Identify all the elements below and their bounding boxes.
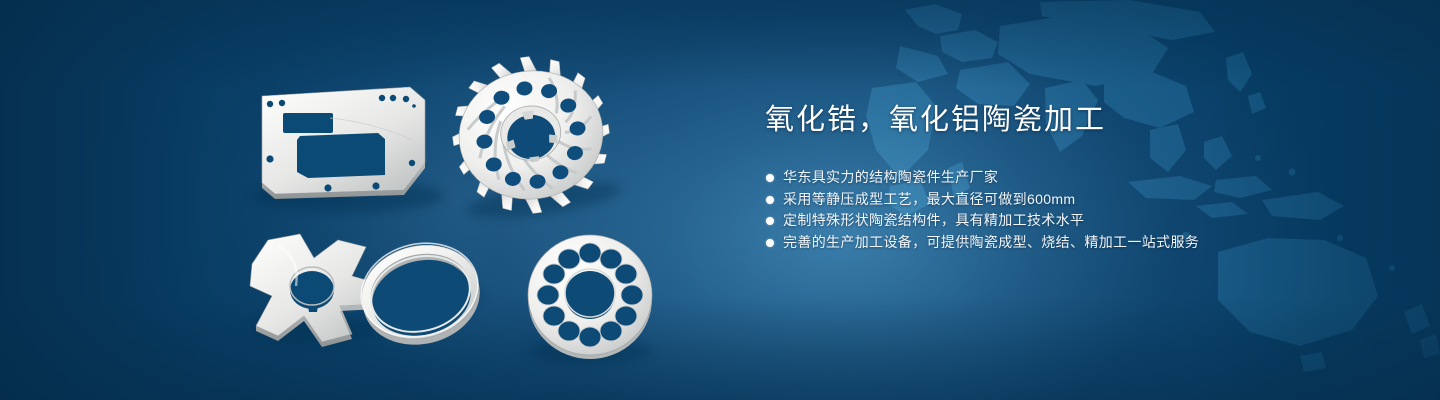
list-item: 采用等静压成型工艺，最大直径可做到600mm xyxy=(765,189,1325,211)
ceramic-perforated-disc xyxy=(528,235,652,364)
list-item: 华东具实力的结构陶瓷件生产厂家 xyxy=(765,167,1325,189)
list-item: 定制特殊形状陶瓷结构件，具有精加工技术水平 xyxy=(765,210,1325,232)
list-item-label: 定制特殊形状陶瓷结构件，具有精加工技术水平 xyxy=(783,212,1084,228)
bullet-dot-icon xyxy=(766,239,774,247)
bullet-dot-icon xyxy=(766,174,774,182)
banner-text-block: 氧化锆，氧化铝陶瓷加工 华东具实力的结构陶瓷件生产厂家 采用等静压成型工艺，最大… xyxy=(765,104,1325,253)
list-item: 完善的生产加工设备，可提供陶瓷成型、烧结、精加工一站式服务 xyxy=(765,232,1325,254)
page-title: 氧化锆，氧化铝陶瓷加工 xyxy=(765,104,1325,136)
ceramic-cross-shaped-part xyxy=(250,234,380,347)
list-item-label: 完善的生产加工设备，可提供陶瓷成型、烧结、精加工一站式服务 xyxy=(783,234,1199,250)
ceramic-parts-photo-group xyxy=(0,0,720,400)
ceramic-plate-with-cutouts xyxy=(252,87,444,212)
list-item-label: 华东具实力的结构陶瓷件生产厂家 xyxy=(783,169,998,185)
feature-list: 华东具实力的结构陶瓷件生产厂家 采用等静压成型工艺，最大直径可做到600mm 定… xyxy=(765,167,1325,253)
ceramic-impeller-disc xyxy=(443,46,624,225)
list-item-label: 采用等静压成型工艺，最大直径可做到600mm xyxy=(783,191,1075,207)
bullet-dot-icon xyxy=(766,196,774,204)
bullet-dot-icon xyxy=(766,217,774,225)
ceramic-ring xyxy=(350,231,491,357)
promotional-banner: 氧化锆，氧化铝陶瓷加工 华东具实力的结构陶瓷件生产厂家 采用等静压成型工艺，最大… xyxy=(0,0,1440,400)
